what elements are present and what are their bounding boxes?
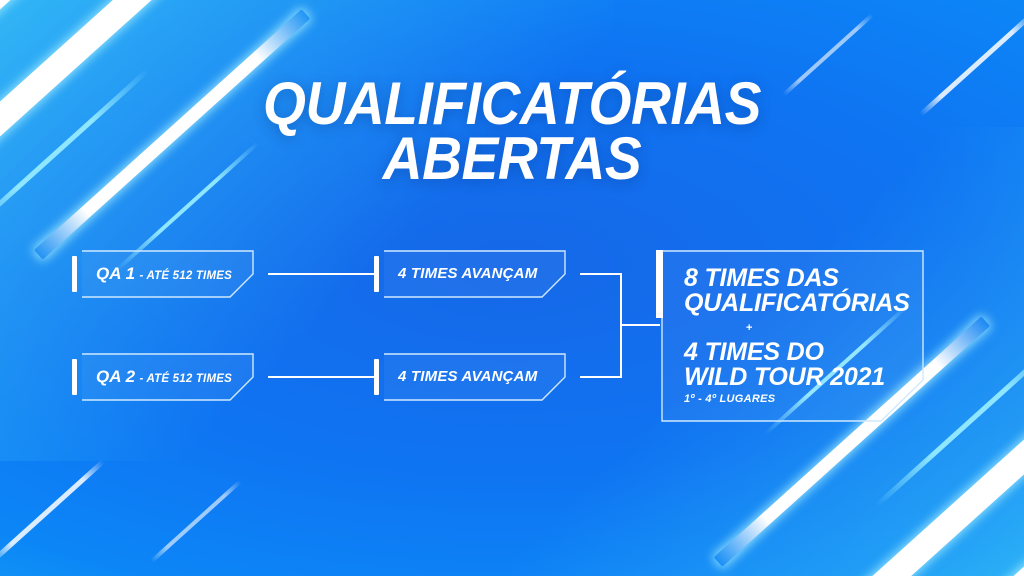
- node-label: QA 1 - ATÉ 512 TIMES: [72, 264, 232, 284]
- connector-qa1-to-round2: [268, 273, 374, 275]
- node-label: QA 2 - ATÉ 512 TIMES: [72, 367, 232, 387]
- final-line-4: WILD TOUR 2021: [684, 365, 914, 390]
- qa1-code: QA 1: [96, 264, 135, 283]
- bracket-node-round2-top[interactable]: 4 TIMES AVANÇAM: [374, 250, 566, 298]
- final-content: 8 TIMES DAS QUALIFICATÓRIAS + 4 TIMES DO…: [656, 250, 924, 405]
- poster-canvas: QUALIFICATÓRIAS ABERTAS QA 1 - ATÉ 512 T…: [0, 0, 1024, 576]
- final-line-2: QUALIFICATÓRIAS: [684, 291, 914, 316]
- final-places: 1º - 4º LUGARES: [684, 393, 914, 405]
- node-label: 4 TIMES AVANÇAM: [374, 265, 537, 283]
- connector-round2-bottom-out: [580, 376, 622, 378]
- bracket-node-qa1[interactable]: QA 1 - ATÉ 512 TIMES: [72, 250, 254, 298]
- final-plus: +: [684, 323, 914, 334]
- connector-qa2-to-round2: [268, 376, 374, 378]
- qa2-code: QA 2: [96, 367, 135, 386]
- round2-top-label: 4 TIMES AVANÇAM: [398, 265, 537, 282]
- qa2-detail: - ATÉ 512 TIMES: [140, 373, 232, 385]
- bracket-diagram: QA 1 - ATÉ 512 TIMES QA 2 - ATÉ 512 TIME…: [0, 0, 1024, 576]
- bracket-node-round2-bottom[interactable]: 4 TIMES AVANÇAM: [374, 353, 566, 401]
- bracket-node-qa2[interactable]: QA 2 - ATÉ 512 TIMES: [72, 353, 254, 401]
- final-line-3: 4 TIMES DO: [684, 340, 914, 365]
- node-label: 4 TIMES AVANÇAM: [374, 368, 537, 386]
- connector-round2-top-out: [580, 273, 622, 275]
- final-line-1: 8 TIMES DAS: [684, 266, 914, 291]
- qa1-detail: - ATÉ 512 TIMES: [140, 270, 232, 282]
- bracket-node-final[interactable]: 8 TIMES DAS QUALIFICATÓRIAS + 4 TIMES DO…: [656, 250, 924, 422]
- round2-bottom-label: 4 TIMES AVANÇAM: [398, 368, 537, 385]
- connector-merge-to-final: [620, 324, 660, 326]
